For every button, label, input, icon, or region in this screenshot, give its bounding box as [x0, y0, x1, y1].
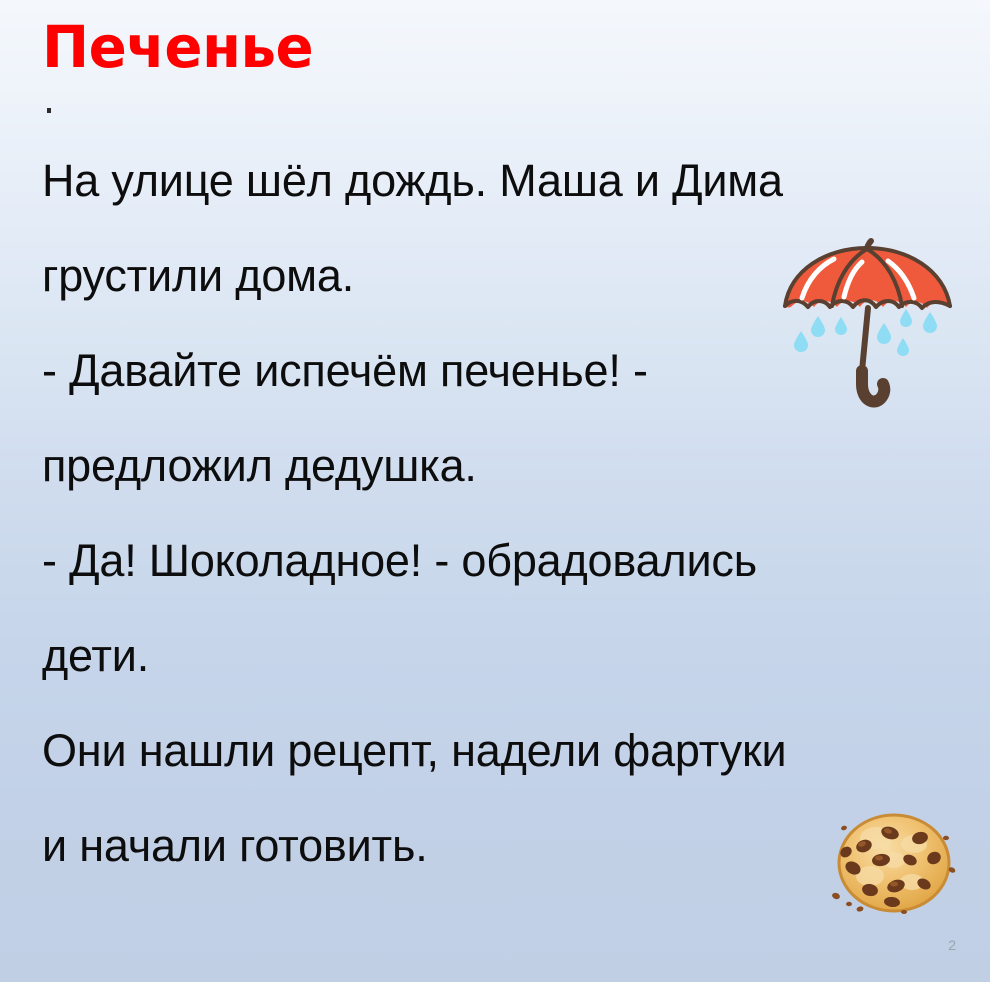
- story-line: - Да! Шоколадное! - обрадовались: [42, 513, 972, 608]
- page-number: 2: [948, 938, 956, 952]
- story-line: дети.: [42, 608, 972, 703]
- story-line: На улице шёл дождь. Маша и Дима: [42, 133, 972, 228]
- stray-period-mark: [47, 108, 51, 113]
- slide-canvas: Печенье На улице шёл дождь. Маша и Дима …: [0, 0, 990, 982]
- chocolate-chip-cookie-icon: [826, 808, 962, 918]
- umbrella-icon: [778, 238, 958, 410]
- page-title: Печенье: [42, 18, 313, 76]
- story-line: предложил дедушка.: [42, 418, 972, 513]
- story-line: Они нашли рецепт, надели фартуки: [42, 703, 972, 798]
